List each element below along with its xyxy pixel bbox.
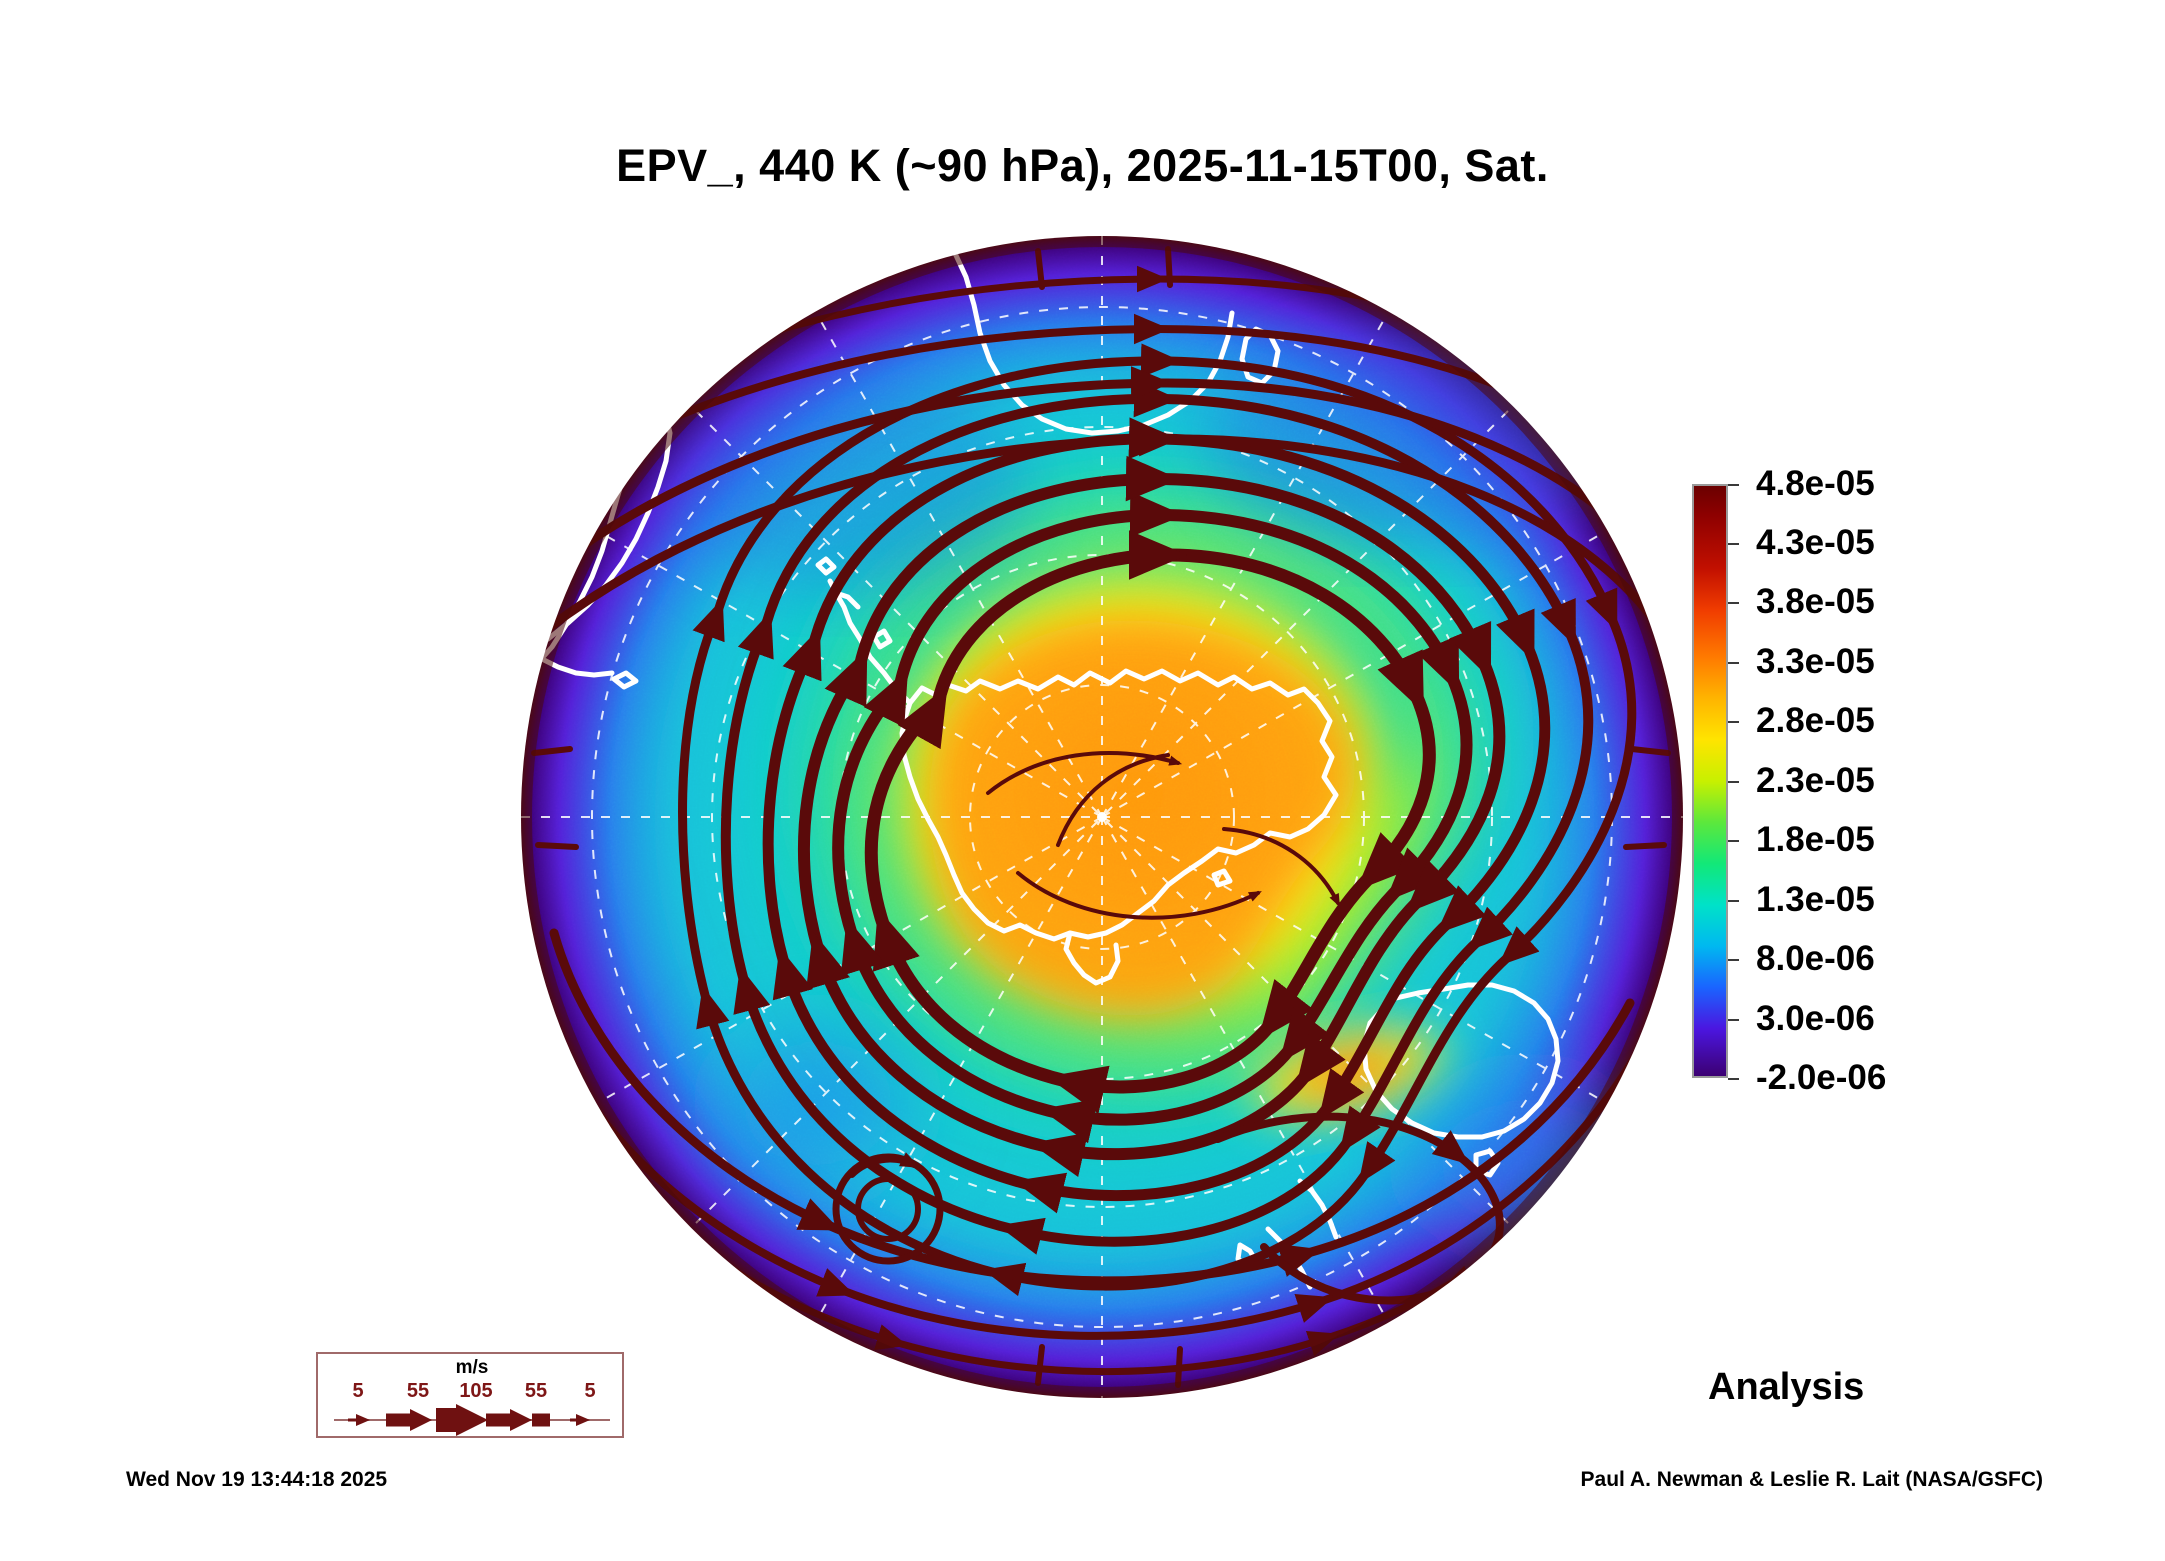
wind-arrow-55-right-head xyxy=(510,1409,532,1431)
colorbar-label: 4.3e-05 xyxy=(1756,523,1875,563)
colorbar-tick xyxy=(1728,484,1739,486)
colorbar-label: 3.3e-05 xyxy=(1756,642,1875,682)
wind-arrow-5-left-head xyxy=(356,1414,370,1426)
colorbar-tick xyxy=(1728,900,1739,902)
wind-arrow-55-left-head xyxy=(410,1409,432,1431)
map-panel xyxy=(518,233,1686,1401)
colorbar-label: 2.8e-05 xyxy=(1756,701,1875,741)
author-credit: Paul A. Newman & Leslie R. Lait (NASA/GS… xyxy=(1581,1468,2043,1492)
wind-legend-value: 105 xyxy=(459,1380,492,1403)
wind-legend-value: 55 xyxy=(525,1380,547,1403)
page-title: EPV_, 440 K (~90 hPa), 2025-11-15T00, Sa… xyxy=(0,140,2165,192)
epv-globe-map xyxy=(518,233,1686,1401)
wind-legend-arrows xyxy=(318,1402,626,1438)
colorbar-tick xyxy=(1728,721,1739,723)
colorbar-tick xyxy=(1728,662,1739,664)
colorbar-label: 1.3e-05 xyxy=(1756,880,1875,920)
colorbar: 4.8e-05 4.3e-05 3.8e-05 3.3e-05 2.8e-05 … xyxy=(1692,484,2112,1084)
wind-arrow-5-right-head xyxy=(576,1414,590,1426)
colorbar-label: 8.0e-06 xyxy=(1756,939,1875,979)
globe-contents xyxy=(518,233,1686,1401)
wind-legend-units-label: m/s xyxy=(318,1357,626,1379)
colorbar-tick xyxy=(1728,840,1739,842)
africa-west-coast xyxy=(934,233,954,251)
colorbar-tick xyxy=(1728,1078,1739,1080)
colorbar-tick xyxy=(1728,543,1739,545)
wind-legend-value: 55 xyxy=(407,1380,429,1403)
south-pole-marker xyxy=(1097,812,1107,822)
colorbar-gradient xyxy=(1692,484,1728,1078)
wind-legend-value: 5 xyxy=(352,1380,363,1403)
colorbar-tick xyxy=(1728,602,1739,604)
colorbar-tick xyxy=(1728,959,1739,961)
wind-speed-legend: m/s 5 55 105 55 5 xyxy=(316,1352,624,1438)
plot-page: EPV_, 440 K (~90 hPa), 2025-11-15T00, Sa… xyxy=(0,0,2165,1561)
wind-legend-value: 5 xyxy=(584,1380,595,1403)
colorbar-label: -2.0e-06 xyxy=(1756,1058,1886,1098)
analysis-label: Analysis xyxy=(1708,1366,1864,1409)
colorbar-label: 1.8e-05 xyxy=(1756,820,1875,860)
generation-timestamp: Wed Nov 19 13:44:18 2025 xyxy=(126,1468,387,1492)
colorbar-label: 4.8e-05 xyxy=(1756,464,1875,504)
wind-arrow-105-head xyxy=(456,1404,488,1436)
colorbar-label: 3.0e-06 xyxy=(1756,999,1875,1039)
colorbar-tick xyxy=(1728,1019,1739,1021)
colorbar-label: 3.8e-05 xyxy=(1756,582,1875,622)
colorbar-tick xyxy=(1728,781,1739,783)
colorbar-label: 2.3e-05 xyxy=(1756,761,1875,801)
